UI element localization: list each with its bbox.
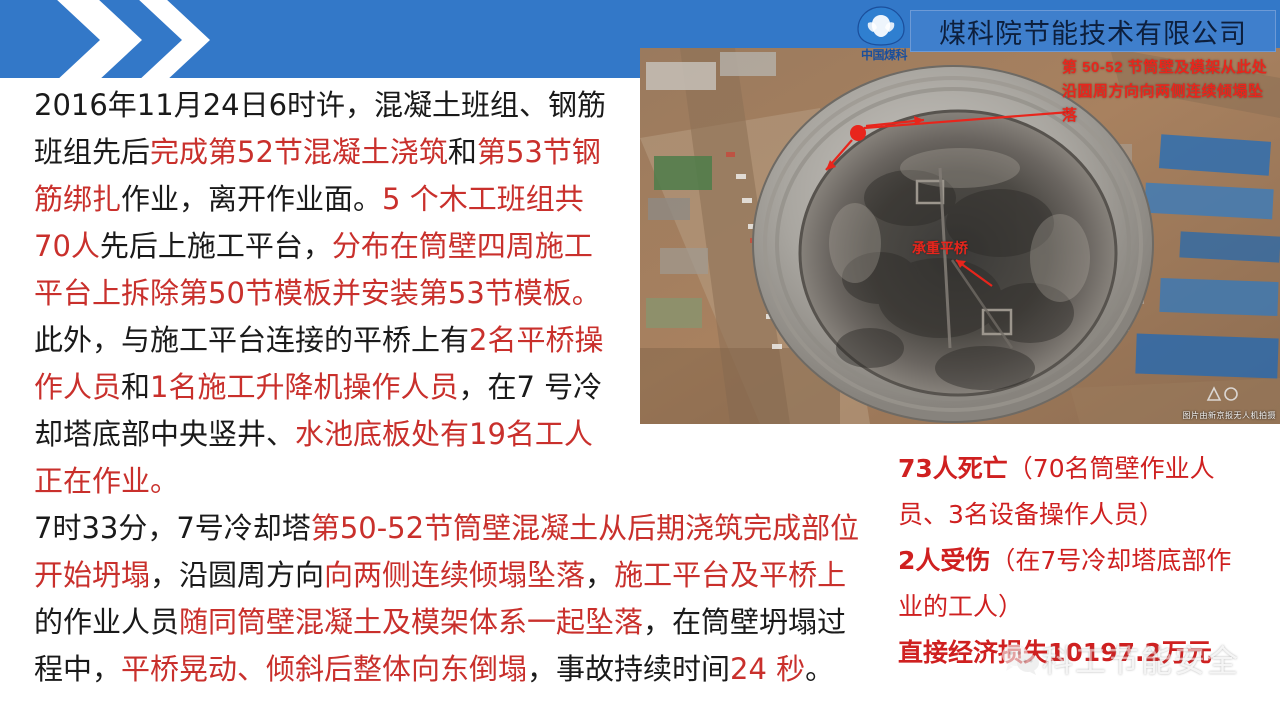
summary-run: 2人受伤 — [898, 546, 990, 575]
photo-corner-mark-icon — [1206, 386, 1240, 402]
summary-line: 2人受伤（在7号冷却塔底部作 — [898, 538, 1278, 584]
narrative-run: 班组先后 — [34, 135, 150, 169]
narrative-run: 正在作业。 — [34, 464, 179, 498]
chevron-arrows-icon — [40, 0, 260, 78]
narrative-run: 水池底板处有19名工人 — [295, 417, 593, 451]
narrative-run: 完成第52节混凝土浇筑 — [150, 135, 448, 169]
narrative-line: 7时33分，7号冷却塔第50-52节筒壁混凝土从后期浇筑完成部位 — [34, 505, 864, 552]
narrative-run: 平桥晃动、倾斜后整体向东倒塌 — [121, 652, 527, 686]
narrative-run: 70人 — [34, 229, 100, 263]
summary-run: （在7号冷却塔底部作 — [990, 546, 1231, 575]
summary-run: 直接经济损失10197.2万元 — [898, 638, 1212, 667]
photo-annotation-top: 第 50-52 节筒壁及模架从此处沿圆周方向向两侧连续倾塌坠落 — [1062, 56, 1274, 128]
narrative-run: 第50-52节筒壁混凝土从后期浇筑完成部位 — [311, 511, 859, 545]
narrative-run: 却塔底部中央竖井、 — [34, 417, 295, 451]
narrative-run: ， — [585, 558, 614, 592]
narrative-run: 先后上施工平台， — [100, 229, 332, 263]
narrative-line: 开始坍塌，沿圆周方向向两侧连续倾塌坠落，施工平台及平桥上 — [34, 552, 864, 599]
company-name-box: 煤科院节能技术有限公司 — [910, 10, 1276, 52]
narrative-run: ，在7 号冷 — [458, 370, 602, 404]
narrative-run: 此外，与施工平台连接的平桥上有 — [34, 323, 469, 357]
narrative-run: 2016年11月24日6时许，混凝土班组、钢筋 — [34, 88, 606, 122]
narrative-run: 1名施工升降机操作人员 — [150, 370, 458, 404]
summary-run: （70名筒壁作业人 — [1008, 454, 1215, 483]
narrative-run: 的作业人员 — [34, 605, 179, 639]
narrative-run: 平台上拆除第50节模板并安装第53节模板。 — [34, 276, 601, 310]
narrative-run: ，事故持续时间 — [527, 652, 730, 686]
narrative-line: 此外，与施工平台连接的平桥上有2名平桥操 — [34, 317, 864, 364]
narrative-run: 随同筒壁混凝土及模架体系一起坠落 — [179, 605, 643, 639]
china-coal-logo-icon — [854, 5, 908, 47]
summary-line: 业的工人） — [898, 584, 1278, 630]
narrative-run: 和 — [448, 135, 477, 169]
narrative-line: 筋绑扎作业，离开作业面。5 个木工班组共 — [34, 176, 864, 223]
narrative-line: 平台上拆除第50节模板并安装第53节模板。 — [34, 270, 864, 317]
narrative-run: 和 — [121, 370, 150, 404]
narrative-run: 作人员 — [34, 370, 121, 404]
narrative-line: 正在作业。 — [34, 458, 864, 505]
narrative-line: 班组先后完成第52节混凝土浇筑和第53节钢 — [34, 129, 864, 176]
casualty-summary: 73人死亡（70名筒壁作业人员、3名设备操作人员）2人受伤（在7号冷却塔底部作业… — [898, 446, 1278, 676]
summary-line: 员、3名设备操作人员） — [898, 492, 1278, 538]
narrative-run: 筋绑扎 — [34, 182, 121, 216]
summary-line: 直接经济损失10197.2万元 — [898, 630, 1278, 676]
narrative-run: 5 个木工班组共 — [382, 182, 584, 216]
narrative-run: ，沿圆周方向 — [150, 558, 324, 592]
incident-narrative: 2016年11月24日6时许，混凝土班组、钢筋班组先后完成第52节混凝土浇筑和第… — [34, 82, 864, 693]
photo-credit: 图片由新京报无人机拍摄 — [1183, 410, 1277, 421]
narrative-run: 向两侧连续倾塌坠落 — [324, 558, 585, 592]
summary-run: 业的工人） — [898, 592, 1023, 621]
narrative-run: 程中， — [34, 652, 121, 686]
narrative-line: 2016年11月24日6时许，混凝土班组、钢筋 — [34, 82, 864, 129]
narrative-line: 却塔底部中央竖井、水池底板处有19名工人 — [34, 411, 864, 458]
summary-run: 73人死亡 — [898, 454, 1008, 483]
company-name-text: 煤科院节能技术有限公司 — [939, 12, 1247, 51]
narrative-line: 70人先后上施工平台，分布在筒壁四周施工 — [34, 223, 864, 270]
narrative-run: 2名平桥操 — [469, 323, 603, 357]
narrative-run: 施工平台及平桥上 — [614, 558, 846, 592]
summary-line: 73人死亡（70名筒壁作业人 — [898, 446, 1278, 492]
narrative-run: ，在筒壁坍塌过 — [643, 605, 846, 639]
narrative-run: 分布在筒壁四周施工 — [332, 229, 593, 263]
narrative-run: 作业，离开作业面。 — [121, 182, 382, 216]
narrative-line: 程中，平桥晃动、倾斜后整体向东倒塌，事故持续时间24 秒。 — [34, 646, 864, 693]
summary-run: 员、3名设备操作人员） — [898, 500, 1164, 529]
photo-annotation-center: 承重平桥 — [912, 238, 968, 258]
narrative-run: 7时33分，7号冷却塔 — [34, 511, 311, 545]
narrative-run: 第53节钢 — [477, 135, 601, 169]
narrative-line: 作人员和1名施工升降机操作人员，在7 号冷 — [34, 364, 864, 411]
narrative-run: 开始坍塌 — [34, 558, 150, 592]
narrative-run: 24 秒 — [730, 652, 805, 686]
narrative-line: 的作业人员随同筒壁混凝土及模架体系一起坠落，在筒壁坍塌过 — [34, 599, 864, 646]
narrative-run: 。 — [805, 652, 834, 686]
